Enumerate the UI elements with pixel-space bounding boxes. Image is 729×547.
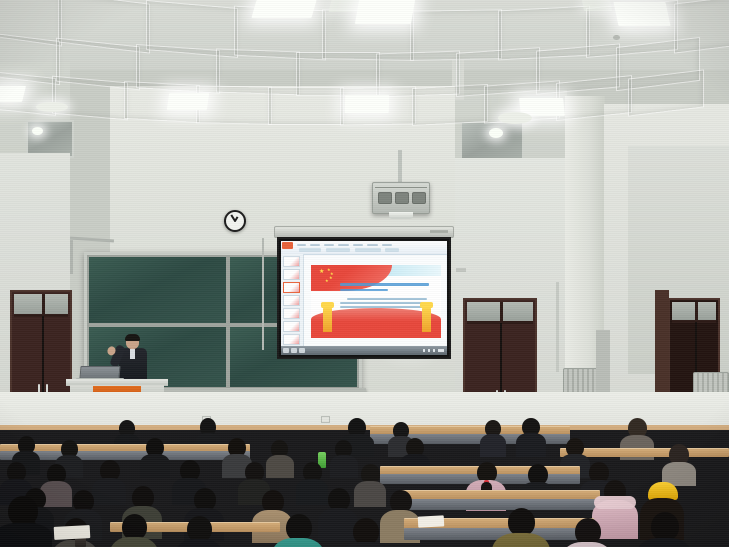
right-alcove-window [460,121,524,163]
ribbon-tab-design[interactable] [324,244,334,246]
projector-vent-right [412,192,426,204]
screen-pull-rod[interactable] [262,238,264,350]
head [8,496,38,526]
ribbon-tab-insert[interactable] [310,244,320,246]
shoulders [480,434,506,457]
open-notebook [418,515,445,527]
projection-screen: ★ ★ ★ ★ ★ [277,237,451,359]
lecturer-shirt [130,349,135,359]
audience-member [480,420,506,456]
transom-mullion [42,294,45,314]
shoulders [175,539,223,547]
blackboard-side-clip [456,268,466,272]
current-slide: ★ ★ ★ ★ ★ [311,265,441,338]
audience-member-olive-parka [492,508,550,547]
door-far-right-transom [672,302,716,323]
audience-member [140,438,170,476]
shoulders [636,538,692,547]
audience-member [175,516,223,547]
slide-title-line-2 [340,289,389,292]
shoulders [562,542,612,547]
slide-thumbnail-2[interactable] [283,269,300,280]
door-right-transom [467,302,533,324]
cage-bar-top [375,187,427,188]
audience-member [340,518,390,547]
shoulders [0,523,52,547]
audience-member [266,440,294,476]
taskbar-app-1[interactable] [291,348,297,353]
ornament-column-right [422,306,431,332]
tray-icon-1[interactable] [423,349,425,352]
head [353,518,379,545]
slide-thumbnail-1[interactable] [283,256,300,267]
head [651,512,679,541]
audience-member [562,518,612,547]
slide-editing-area[interactable]: ★ ★ ★ ★ ★ [304,255,446,346]
transom-mullion [500,302,503,321]
ornament-column-left [323,306,332,332]
white-notebook [54,525,91,540]
ribbon-tab-anim[interactable] [353,244,363,246]
tray-icon-3[interactable] [433,349,435,352]
tray-icon-2[interactable] [428,349,430,352]
slide-body-line-2 [340,302,426,304]
flag-star-s3: ★ [329,276,333,280]
slide-thumbnail-panel[interactable] [281,254,304,346]
flag-star-s4: ★ [325,279,329,283]
shoulders [516,433,546,457]
ribbon-group-drawing[interactable] [355,248,381,252]
slide-thumbnail-7[interactable] [283,334,300,345]
slide-title-line-1 [340,283,430,286]
audience-area [0,418,729,547]
taskbar-start-button[interactable] [283,348,289,353]
taskbar-app-2[interactable] [299,348,305,353]
ribbon-group-paragraph[interactable] [326,248,350,252]
screen-housing-label [430,230,448,233]
slide-title-text [340,283,434,294]
slide-thumbnail-3[interactable] [283,282,300,293]
ribbon-tab-show[interactable] [367,244,378,246]
right-window-light-glow [489,128,503,138]
projector-lens-glow [389,212,413,219]
slide-thumbnail-4[interactable] [283,295,300,306]
shoulders [110,537,158,547]
projector-vent-left [378,192,392,204]
ribbon-group-font[interactable] [299,248,321,252]
projector-lens-window [395,192,409,204]
fur-collar [594,496,636,509]
left-window-light-glow [32,127,43,135]
lecturer-hair [125,334,140,341]
shoulders-olive-parka [492,533,550,547]
audience-member [516,418,546,456]
audience-member-teal-hoodie [272,514,324,547]
flag-star-big: ★ [319,270,324,274]
ribbon-tab-trans[interactable] [338,244,349,246]
audience-member [636,512,692,547]
shoulders [140,454,170,478]
lecture-hall-photo: ★ ★ ★ ★ ★ [0,0,729,547]
shoulders-teal-hoodie [272,538,324,547]
shoulders [340,542,390,547]
clock-center-pin [234,220,236,222]
projector-cage [372,182,430,214]
wall-clock [224,210,246,232]
head [508,508,535,536]
slide-thumbnail-5[interactable] [283,308,300,319]
head [286,514,312,541]
slide-body-line-1 [347,298,427,300]
slide-thumbnail-6[interactable] [283,321,300,332]
head [575,518,601,545]
wall-pipe-right [556,282,559,372]
blackboard-panel-1 [87,255,228,325]
blackboard-light-stem [70,240,73,274]
powerpoint-ribbon[interactable] [281,241,447,255]
ribbon-tab-home[interactable] [297,244,306,246]
ribbon-group-editing[interactable] [385,248,399,252]
windows-taskbar[interactable] [281,346,447,355]
wall-panel-right [596,330,610,396]
shoulders [266,455,294,478]
ribbon-tab-review[interactable] [382,244,392,246]
door-left-transom [14,294,68,317]
tray-clock[interactable] [438,349,444,352]
audience-member [110,514,158,547]
powerpoint-window[interactable]: ★ ★ ★ ★ ★ [281,241,447,355]
audience-member [662,444,696,484]
projector-mount-pole [398,150,402,182]
transom-mullion [695,302,698,320]
audience-member-front [0,496,52,547]
file-tab[interactable] [282,242,293,249]
